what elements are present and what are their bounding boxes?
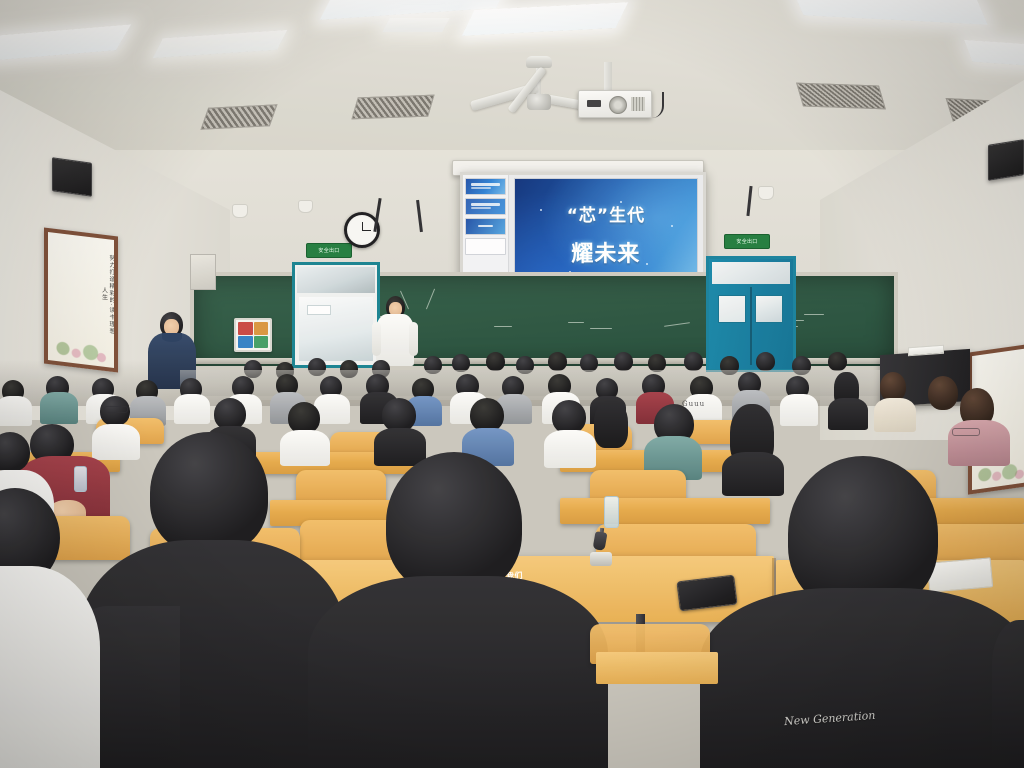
slide-thumbnail[interactable] <box>465 218 506 235</box>
foreground-student-body <box>0 566 100 768</box>
audience-glasses <box>952 428 980 436</box>
classroom-door-left[interactable] <box>292 262 380 368</box>
door-transom-glass <box>297 267 375 293</box>
audience-head <box>756 352 775 371</box>
foreground-student-body <box>992 620 1024 768</box>
security-camera <box>232 204 248 218</box>
wall-poster-left: 努力打造精彩的·读书理想人生 <box>44 227 118 372</box>
desk-row <box>560 498 770 524</box>
ceiling-air-vent <box>351 95 434 120</box>
door-panel-glass <box>755 295 783 323</box>
lecture-hall-photo: “芯”生代 耀未来 安徽三辰光电有限公司 秋季校园招聘宣讲 <box>0 0 1024 768</box>
wall-intercom <box>190 254 216 290</box>
door-center-seam <box>750 287 752 365</box>
slide-thumbnail[interactable] <box>465 198 506 215</box>
audience-body <box>0 396 32 426</box>
ceiling-air-vent <box>796 83 886 110</box>
audience-body <box>374 428 426 466</box>
presenter-arm <box>372 322 381 356</box>
wall-poster-left-text: 努力打造精彩的·读书理想人生 <box>48 245 114 338</box>
desk-microphone[interactable] <box>590 528 612 566</box>
audience-head <box>928 376 958 410</box>
exit-sign-left-label: 安全出口 <box>318 247 339 254</box>
security-camera <box>758 186 774 200</box>
slide-title-line-1: “芯”生代 <box>515 201 697 226</box>
foreground-student-body <box>700 588 1024 768</box>
classroom-door-right[interactable] <box>706 256 796 372</box>
slide-thumbnail[interactable] <box>465 238 506 255</box>
wall-control-panel[interactable] <box>234 318 272 352</box>
audience-body <box>780 394 818 426</box>
audience-head <box>828 352 847 371</box>
audience-head <box>382 398 416 432</box>
wall-speaker-right <box>988 139 1024 181</box>
slide-thumbnail[interactable] <box>465 178 506 195</box>
foreground-student-body <box>308 576 608 768</box>
audience-head <box>470 398 504 432</box>
exit-sign-right-label: 安全出口 <box>736 238 757 245</box>
fan-canopy <box>526 56 552 68</box>
panel-button[interactable] <box>254 322 269 335</box>
water-bottle <box>74 466 87 492</box>
audience-body <box>544 430 596 468</box>
desk-surface <box>596 652 718 684</box>
projector-indicator <box>587 100 601 107</box>
water-bottle <box>604 496 619 528</box>
door-notice <box>307 305 331 315</box>
projector-vent <box>631 97 645 111</box>
door-panel-glass <box>718 295 746 323</box>
door-transom-glass <box>712 262 790 284</box>
ceiling-air-vent <box>200 104 277 130</box>
wall-speaker-left <box>52 157 92 197</box>
audience-head <box>486 352 505 371</box>
host-collar <box>162 333 182 342</box>
foreground-student-head <box>386 452 522 594</box>
seat-back <box>296 470 386 504</box>
audience-head <box>548 352 567 371</box>
projector <box>578 90 652 118</box>
audience-head <box>684 352 703 371</box>
audience-head <box>594 400 628 448</box>
exit-sign-left: 安全出口 <box>306 243 352 258</box>
security-camera <box>298 200 313 213</box>
audience-body <box>828 398 868 430</box>
projector-lens <box>609 96 627 114</box>
ceiling-light <box>382 18 449 32</box>
audience-body <box>948 420 1010 466</box>
audience-head <box>614 352 633 371</box>
audience-body <box>174 394 210 424</box>
audience-head <box>552 400 586 434</box>
audience-body <box>722 452 784 496</box>
audience-glasses <box>104 406 128 413</box>
desk-papers <box>927 557 993 592</box>
slide-title-line-2: 耀未来 <box>515 236 697 268</box>
fan-motor <box>527 94 551 110</box>
audience-body <box>92 424 140 460</box>
presenter-arm <box>409 322 418 356</box>
panel-button[interactable] <box>238 322 253 335</box>
microphone-base <box>590 552 612 566</box>
exit-sign-right: 安全出口 <box>724 234 770 249</box>
audience-body <box>40 392 78 424</box>
panel-button[interactable] <box>238 336 253 349</box>
audience-body <box>874 398 916 432</box>
audience-body <box>280 430 330 466</box>
foreground-student-head <box>150 432 268 554</box>
poster-flower-art <box>51 326 112 364</box>
panel-button[interactable] <box>254 336 269 349</box>
